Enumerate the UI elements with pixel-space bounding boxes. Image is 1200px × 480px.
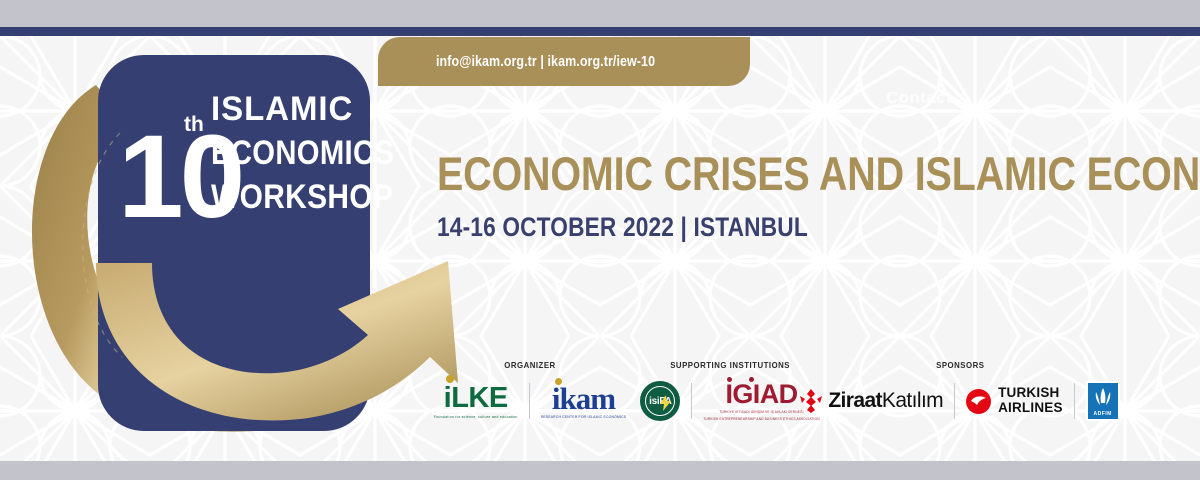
sponsors-label: SPONSORS bbox=[936, 360, 984, 370]
svg-text:ECONOMICS: ECONOMICS bbox=[211, 133, 394, 172]
supporting-institutions-logos: isiFA IGIAD TÜRKİYE İKTİSADİ GİRİŞİM VE … bbox=[640, 379, 819, 423]
logo-divider bbox=[954, 383, 955, 419]
svg-text:WORKSHOP: WORKSHOP bbox=[211, 177, 393, 215]
logo-divider bbox=[691, 383, 692, 419]
svg-text:th: th bbox=[184, 113, 204, 136]
ziraat-bold-word: Ziraat bbox=[828, 389, 882, 412]
top-frame-bar bbox=[0, 0, 1200, 27]
igiad-dot-one-icon bbox=[727, 377, 732, 382]
thy-line-two: AIRLINES bbox=[998, 401, 1063, 416]
lightning-bolt-icon bbox=[660, 395, 671, 411]
ilke-dot-icon bbox=[446, 375, 454, 383]
svg-text:ISLAMIC: ISLAMIC bbox=[211, 91, 353, 129]
organizer-group: ORGANIZER iLKE Foundation for science, c… bbox=[430, 360, 630, 423]
logo-divider bbox=[529, 383, 530, 419]
ikam-logo[interactable]: ikam RESEARCH CENTER FOR ISLAMIC ECONOMI… bbox=[541, 383, 627, 419]
turkish-airlines-logo[interactable]: TURKISH AIRLINES bbox=[966, 386, 1063, 415]
wheat-sheaf-icon bbox=[800, 389, 822, 413]
ziraat-light-word: Katılım bbox=[882, 389, 943, 412]
ilke-wordmark: iLKE bbox=[444, 384, 508, 413]
ziraat-wordmark: ZiraatKatılım bbox=[828, 389, 943, 413]
ilke-logo[interactable]: iLKE Foundation for science, culture and… bbox=[434, 384, 518, 419]
event-title: ECONOMIC CRISES AND ISLAMIC ECONOMICS bbox=[437, 150, 1050, 198]
ziraat-katilim-logo[interactable]: ZiraatKatılım bbox=[800, 389, 943, 413]
logo-divider bbox=[1074, 383, 1075, 419]
ilke-tagline: Foundation for science, culture and educ… bbox=[434, 415, 518, 419]
event-banner: Contact bbox=[0, 0, 1200, 480]
tulip-icon bbox=[1093, 387, 1113, 409]
supporting-institutions-label: SUPPORTING INSTITUTIONS bbox=[670, 360, 790, 370]
adfim-logo[interactable]: ADFIM bbox=[1086, 381, 1120, 421]
contact-bar[interactable]: info@ikam.org.tr | ikam.org.tr/iew-10 bbox=[378, 37, 750, 86]
igiad-tagline-tr: TÜRKİYE İKTİSADİ GİRİŞİM VE İŞ AHLAKI DE… bbox=[719, 410, 803, 414]
headline-block: ECONOMIC CRISES AND ISLAMIC ECONOMICS 14… bbox=[437, 150, 1167, 243]
ikam-wordmark: ikam bbox=[552, 383, 615, 414]
thy-line-one: TURKISH bbox=[998, 386, 1063, 401]
isifam-logo[interactable]: isiFA bbox=[640, 381, 680, 421]
logo-strip: ORGANIZER iLKE Foundation for science, c… bbox=[430, 360, 1090, 435]
sponsors-group: SPONSORS ZiraatKatılım bbox=[830, 360, 1090, 423]
contact-watermark: Contact bbox=[886, 88, 952, 108]
adfim-wordmark: ADFIM bbox=[1094, 411, 1112, 417]
event-date-location: 14-16 OCTOBER 2022 | ISTANBUL bbox=[437, 212, 1050, 243]
contact-text: info@ikam.org.tr | ikam.org.tr/iew-10 bbox=[436, 54, 655, 70]
thy-roundel-icon bbox=[966, 389, 991, 414]
organizer-label: ORGANIZER bbox=[504, 360, 555, 370]
organizer-logos: iLKE Foundation for science, culture and… bbox=[434, 379, 627, 423]
igiad-wordmark: IGIAD bbox=[725, 381, 797, 408]
sponsors-logos: ZiraatKatılım TURKISH AIRLINES bbox=[800, 379, 1119, 423]
thy-wordmark: TURKISH AIRLINES bbox=[998, 386, 1063, 415]
igiad-dot-two-icon bbox=[749, 377, 754, 382]
left-emblem-artwork: 10 th ISLAMIC ECONOMICS WORKSHOP bbox=[0, 27, 470, 461]
ikam-dot-icon bbox=[555, 378, 562, 385]
bottom-frame-bar bbox=[0, 461, 1200, 480]
